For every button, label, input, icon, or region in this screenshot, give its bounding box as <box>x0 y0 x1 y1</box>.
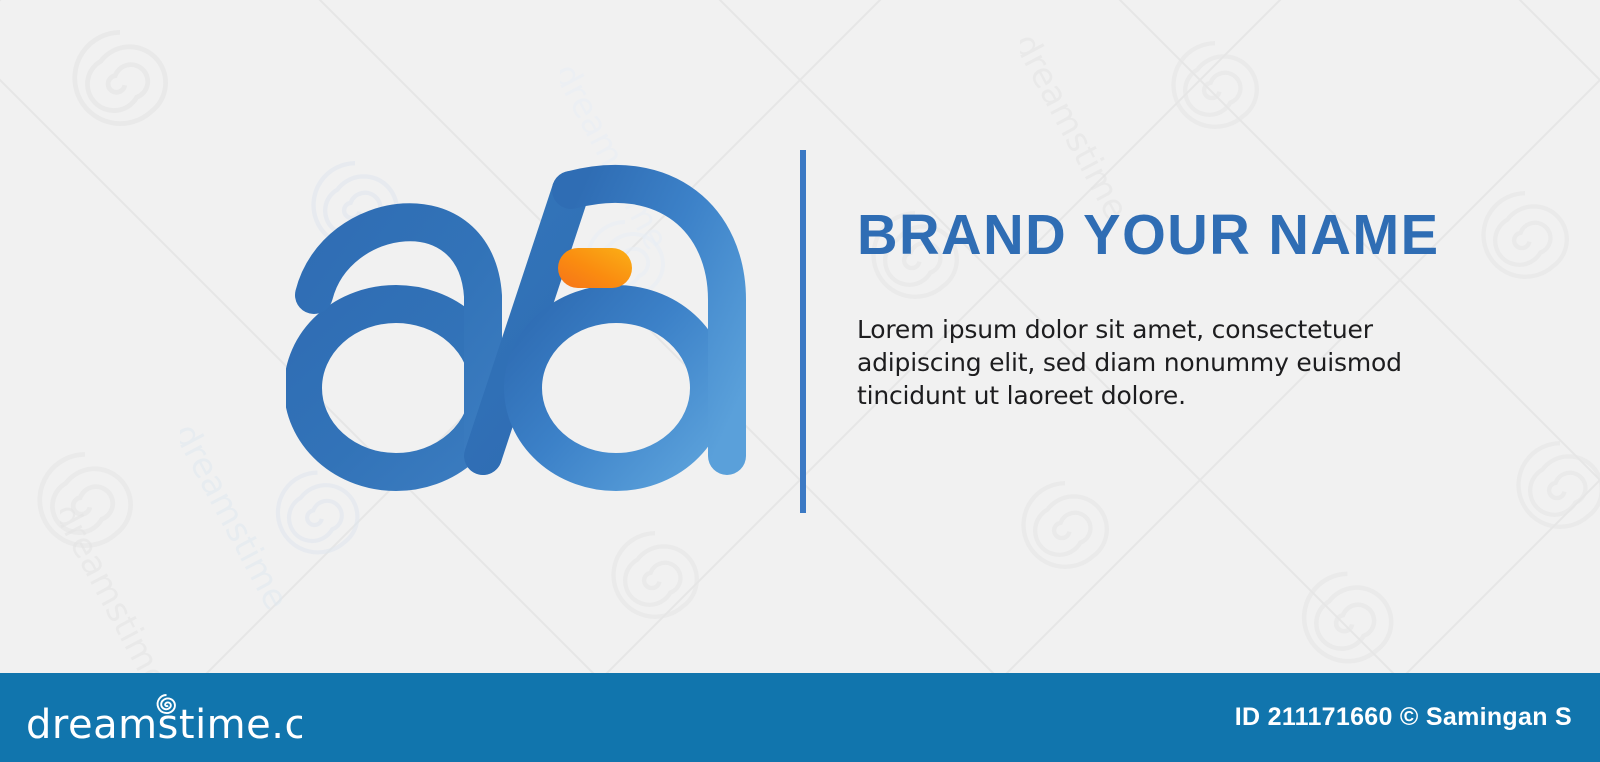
spiral-icon <box>25 440 145 560</box>
spiral-icon <box>60 18 180 138</box>
brand-text-block: BRAND YOUR NAME Lorem ipsum dolor sit am… <box>857 205 1477 412</box>
brand-description: Lorem ipsum dolor sit amet, consectetuer… <box>857 313 1477 412</box>
footer-credit: ID 211171660 © Samingan S <box>1235 673 1572 762</box>
spiral-icon <box>1160 30 1270 140</box>
spiral-icon <box>1290 560 1405 673</box>
svg-text:dreamstime: dreamstime <box>1020 27 1136 226</box>
logo-right-a-bowl <box>523 304 709 472</box>
brand-description-line-1: Lorem ipsum dolor sit amet, consectetuer <box>857 313 1477 346</box>
spiral-icon <box>1470 180 1580 290</box>
dreamstime-logo-text: dreamstime.com <box>26 702 302 744</box>
watermark-wordmark: dreamstime <box>60 480 290 673</box>
logo-preview-canvas: dreamstime dreamstime dreamstime dreamst… <box>0 0 1600 762</box>
brand-description-line-3: tincidunt ut laoreet dolore. <box>857 379 1477 412</box>
logo-left-a-bowl <box>303 304 489 472</box>
vertical-divider <box>800 150 806 513</box>
svg-text:dreamstime: dreamstime <box>60 497 176 673</box>
brand-title: BRAND YOUR NAME <box>857 205 1468 265</box>
spiral-icon <box>1010 470 1120 580</box>
ava-monogram-logo <box>286 160 756 510</box>
spiral-icon <box>1505 430 1600 540</box>
dreamstime-footer-bar: dreamstime.com ID 211171660 © Samingan S <box>0 673 1600 762</box>
dreamstime-logo[interactable]: dreamstime.com <box>22 695 302 741</box>
brand-description-line-2: adipiscing elit, sed diam nonummy euismo… <box>857 346 1477 379</box>
svg-text:dreamstime: dreamstime <box>180 417 296 616</box>
dreamstime-wordmark: dreamstime.com <box>22 692 302 744</box>
logo-orange-accent <box>558 248 632 288</box>
spiral-icon <box>600 520 710 630</box>
